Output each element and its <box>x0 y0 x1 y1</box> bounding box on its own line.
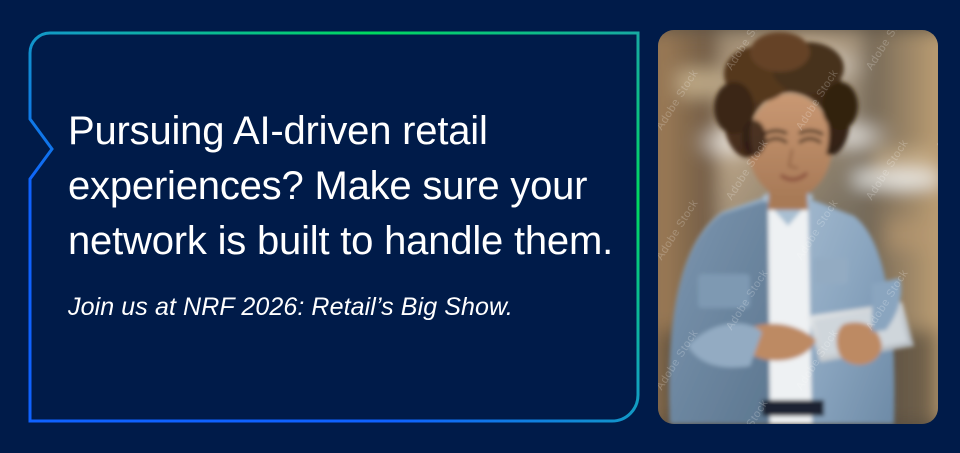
subhead: Join us at NRF 2026: Retail’s Big Show. <box>68 269 638 323</box>
promo-banner: Pursuing AI-driven retail experiences? M… <box>0 0 960 453</box>
woman-with-tablet-photo: Adobe Stock Adobe Stock Adobe Stock Adob… <box>658 30 938 424</box>
headline: Pursuing AI-driven retail experiences? M… <box>68 104 638 269</box>
copy-block: Pursuing AI-driven retail experiences? M… <box>68 104 638 323</box>
